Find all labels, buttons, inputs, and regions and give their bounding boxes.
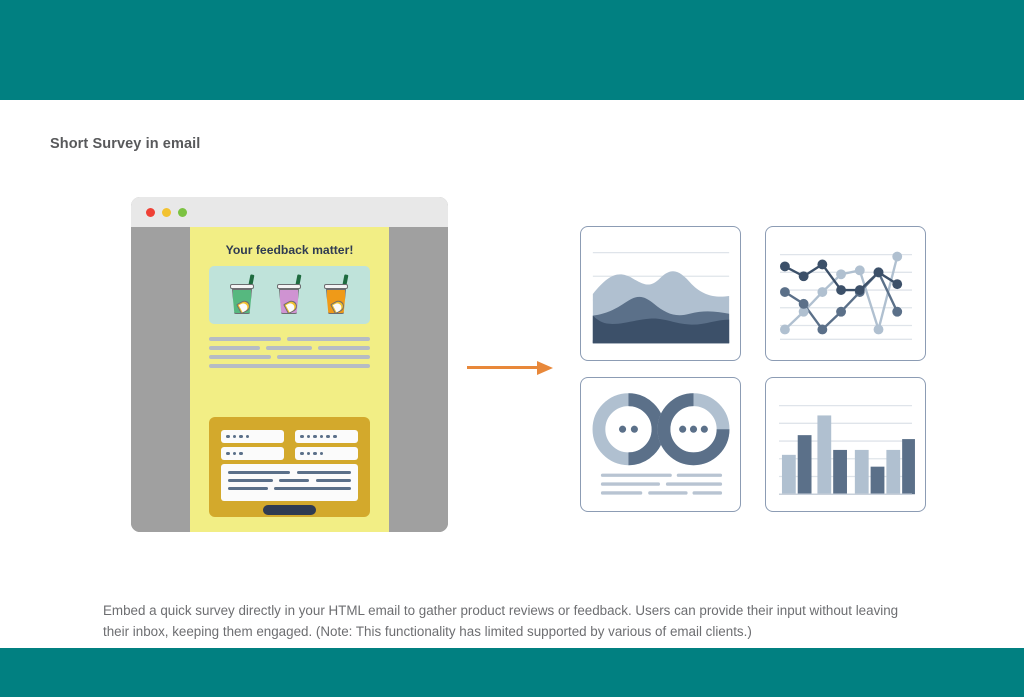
stacked-area-chart-card[interactable] [580, 226, 741, 361]
donut-right-dot [701, 426, 708, 433]
donut-left-dot [619, 426, 626, 433]
field-name[interactable] [221, 430, 284, 443]
donut-right-dot [690, 426, 697, 433]
stacked-area-chart [581, 227, 740, 360]
donut-charts-card[interactable] [580, 377, 741, 512]
flow-arrow [467, 361, 557, 375]
bar-dark-1 [798, 435, 812, 494]
donut-left [599, 400, 658, 459]
gridlines [780, 255, 912, 340]
comment-textarea[interactable] [221, 464, 358, 501]
browser-mockup: Your feedback matter! [131, 197, 448, 532]
submit-button[interactable] [263, 505, 316, 515]
orange-smoothie-cup [321, 274, 351, 316]
minimize-icon[interactable] [162, 208, 171, 217]
field-product[interactable] [295, 447, 358, 460]
bar-light-3 [855, 450, 869, 494]
green-smoothie-cup [227, 274, 257, 316]
bar-dark-3 [871, 467, 885, 495]
arrow-shaft [467, 366, 539, 369]
footer-band [0, 648, 1024, 697]
maximize-icon[interactable] [178, 208, 187, 217]
browser-titlebar [131, 197, 448, 227]
header-band [0, 0, 1024, 100]
bar-dark-2 [833, 450, 847, 494]
browser-viewport: Your feedback matter! [131, 227, 448, 532]
donut-left-dot [631, 426, 638, 433]
bar-light-2 [817, 415, 831, 494]
field-email[interactable] [295, 430, 358, 443]
email-heading: Your feedback matter! [190, 243, 389, 257]
product-image-banner [209, 266, 370, 324]
slide-canvas: Short Survey in email Your feedback matt… [0, 0, 1024, 697]
multi-line-chart-card[interactable] [765, 226, 926, 361]
cup-lid [277, 284, 301, 289]
arrow-head-icon [537, 361, 553, 375]
donut-caption-lines [601, 474, 722, 495]
cup-lid [230, 284, 254, 289]
donut-charts [581, 378, 740, 511]
field-rating[interactable] [221, 447, 284, 460]
close-icon[interactable] [146, 208, 155, 217]
bar-light-4 [886, 450, 900, 494]
berry-smoothie-cup [274, 274, 304, 316]
donut-right [664, 400, 723, 459]
bars [782, 415, 915, 494]
grouped-bar-chart-card[interactable] [765, 377, 926, 512]
grouped-bar-chart [766, 378, 925, 511]
cup-lid [324, 284, 348, 289]
page-title: Short Survey in email [50, 136, 200, 152]
email-body: Your feedback matter! [190, 227, 389, 532]
bar-dark-4 [902, 439, 915, 494]
bar-light-1 [782, 455, 796, 494]
description-caption: Embed a quick survey directly in your HT… [103, 601, 923, 642]
donut-right-dot [679, 426, 686, 433]
survey-form [209, 417, 370, 517]
multi-line-chart [766, 227, 925, 360]
area-baseline [593, 340, 729, 343]
